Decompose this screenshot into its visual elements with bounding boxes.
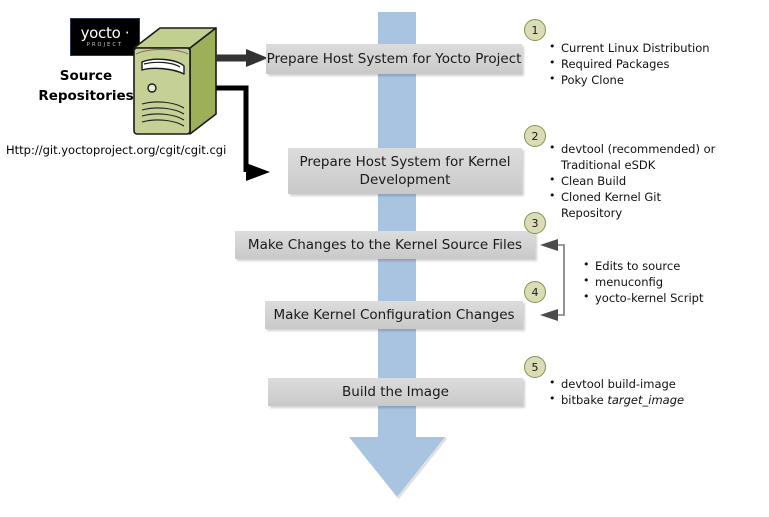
step-circle-1-number: 1 bbox=[532, 24, 539, 37]
process-box-step-5-label: Build the Image bbox=[342, 383, 449, 401]
bullet-item: devtool build-image bbox=[549, 376, 749, 392]
bullets-shared-steps-3-4: Edits to source menuconfig yocto-kernel … bbox=[583, 258, 763, 306]
step-circle-4: 4 bbox=[524, 281, 546, 303]
bullet-item: bitbake target_image bbox=[549, 392, 749, 408]
bullets-step-2: devtool (recommended) or Traditional eSD… bbox=[549, 141, 721, 221]
process-box-step-3[interactable]: Make Changes to the Kernel Source Files bbox=[235, 231, 535, 259]
bullet-item: Cloned Kernel Git Repository bbox=[549, 189, 721, 221]
bullet-step5-prefix: bitbake bbox=[561, 393, 607, 407]
process-box-step-2-label-line1: Prepare Host System for Kernel bbox=[299, 153, 510, 171]
bullet-item: devtool (recommended) or Traditional eSD… bbox=[549, 141, 721, 173]
bullets-step-5: devtool build-image bitbake target_image bbox=[549, 376, 749, 408]
diagram-canvas: yocto · PROJECT Source Repositories Http… bbox=[0, 0, 769, 517]
bullet-item: menuconfig bbox=[583, 274, 763, 290]
step-circle-5: 5 bbox=[524, 356, 546, 378]
process-box-step-2[interactable]: Prepare Host System for Kernel Developme… bbox=[288, 148, 522, 194]
bullet-item: yocto-kernel Script bbox=[583, 290, 763, 306]
bullet-item: Clean Build bbox=[549, 173, 721, 189]
process-box-step-5[interactable]: Build the Image bbox=[268, 378, 523, 406]
bullet-item: Poky Clone bbox=[549, 72, 754, 88]
bullet-item: Required Packages bbox=[549, 56, 754, 72]
step-circle-3: 3 bbox=[524, 212, 546, 234]
process-box-step-1-label: Prepare Host System for Yocto Project bbox=[267, 50, 522, 68]
process-box-step-2-label-line2: Development bbox=[360, 171, 451, 189]
step-circle-1: 1 bbox=[524, 19, 546, 41]
step-circle-4-number: 4 bbox=[532, 286, 539, 299]
step-circle-2: 2 bbox=[524, 125, 546, 147]
step-circle-5-number: 5 bbox=[532, 361, 539, 374]
bullet-step5-italic-arg: target_image bbox=[607, 393, 684, 407]
process-box-step-4[interactable]: Make Kernel Configuration Changes bbox=[265, 301, 523, 329]
process-box-step-1[interactable]: Prepare Host System for Yocto Project bbox=[266, 44, 522, 74]
process-box-step-4-label: Make Kernel Configuration Changes bbox=[273, 306, 514, 324]
bullet-item: Current Linux Distribution bbox=[549, 40, 754, 56]
process-box-step-3-label: Make Changes to the Kernel Source Files bbox=[248, 236, 522, 254]
step-circle-2-number: 2 bbox=[532, 130, 539, 143]
bullets-step-1: Current Linux Distribution Required Pack… bbox=[549, 40, 754, 88]
step-circle-3-number: 3 bbox=[532, 217, 539, 230]
bullet-item: Edits to source bbox=[583, 258, 763, 274]
